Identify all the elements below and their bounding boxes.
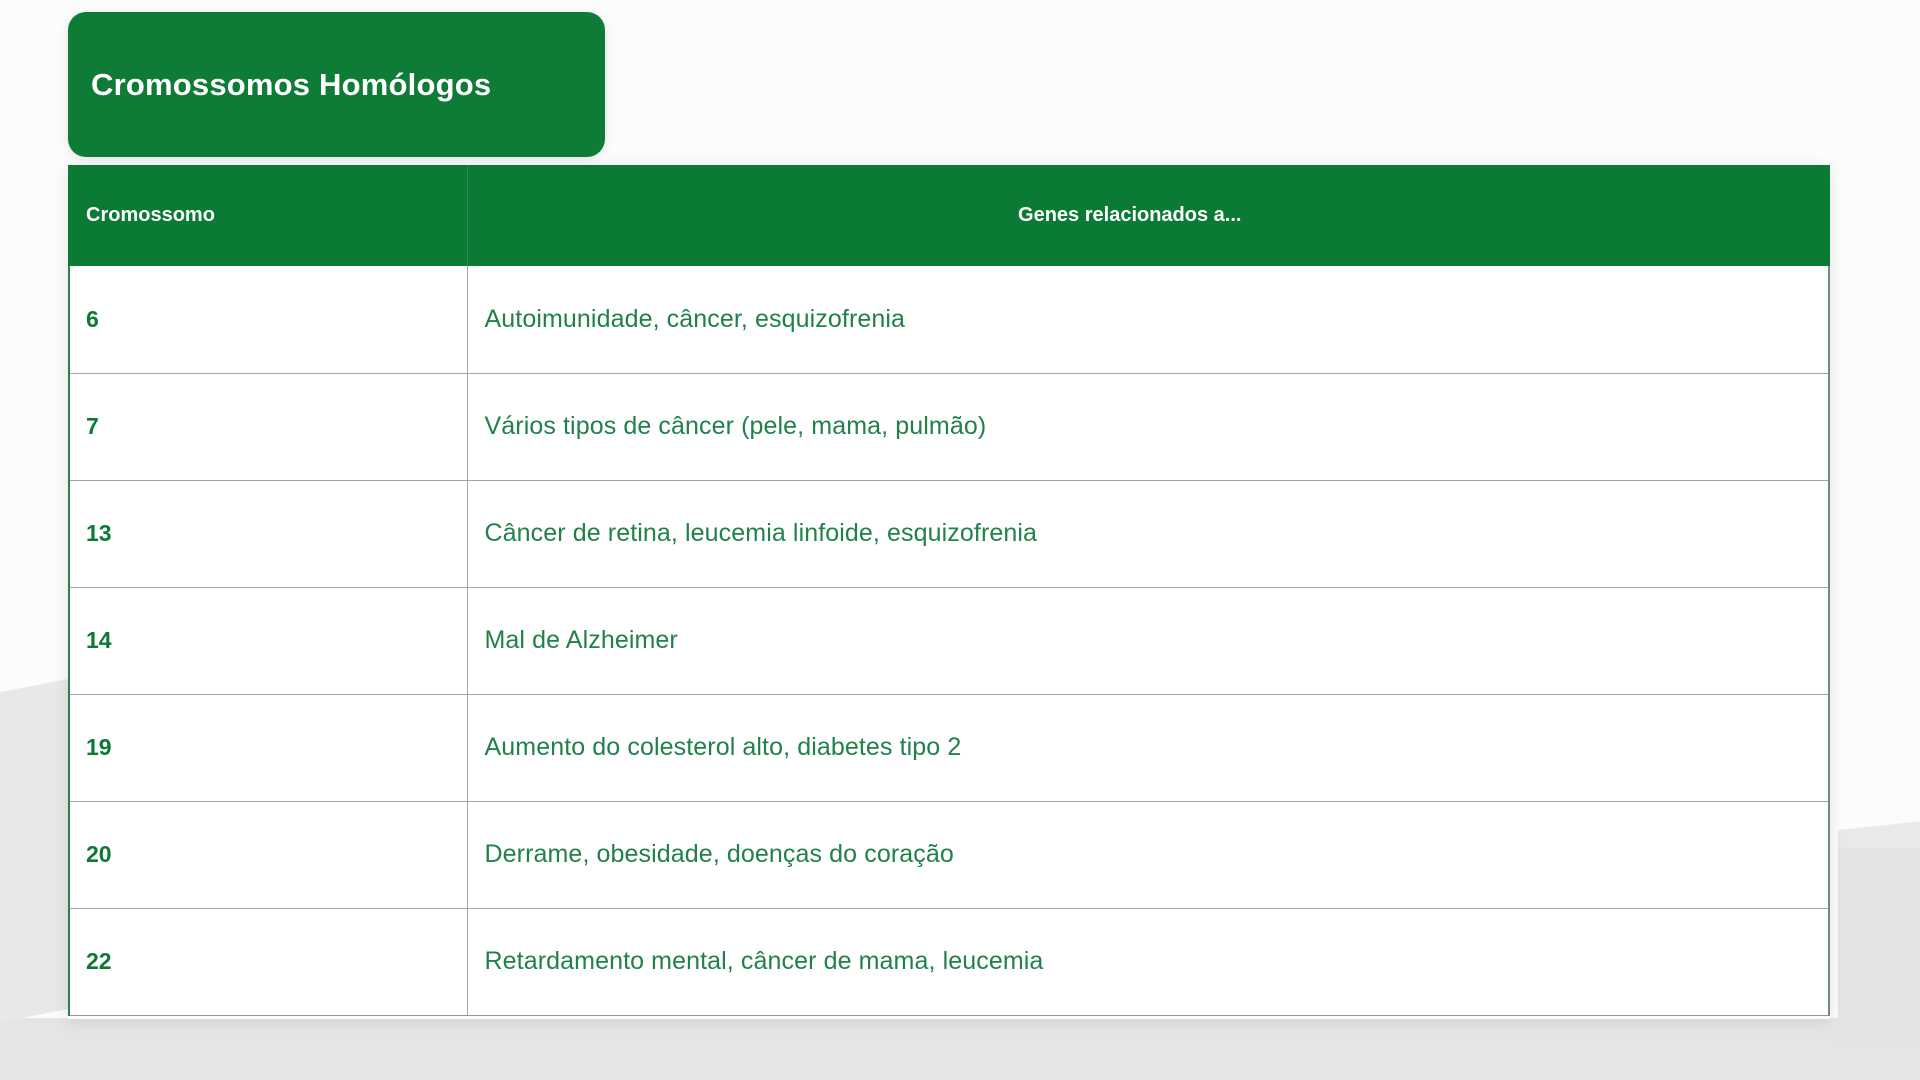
cell-genes: Aumento do colesterol alto, diabetes tip… <box>467 694 1829 801</box>
table-row: 22 Retardamento mental, câncer de mama, … <box>69 908 1829 1015</box>
table-header-row: Cromossomo Genes relacionados a... <box>69 165 1829 266</box>
cell-chromosome: 14 <box>69 587 467 694</box>
cell-genes: Autoimunidade, câncer, esquizofrenia <box>467 266 1829 373</box>
title-badge: Cromossomos Homólogos <box>68 12 605 157</box>
cell-genes: Derrame, obesidade, doenças do coração <box>467 801 1829 908</box>
table-header: Cromossomo Genes relacionados a... <box>69 165 1829 266</box>
cell-genes: Câncer de retina, leucemia linfoide, esq… <box>467 480 1829 587</box>
cell-chromosome: 13 <box>69 480 467 587</box>
cell-genes: Retardamento mental, câncer de mama, leu… <box>467 908 1829 1015</box>
table-row: 19 Aumento do colesterol alto, diabetes … <box>69 694 1829 801</box>
cell-chromosome: 7 <box>69 373 467 480</box>
table-row: 6 Autoimunidade, câncer, esquizofrenia <box>69 266 1829 373</box>
background-bottom-band <box>0 1018 1920 1080</box>
column-header-genes: Genes relacionados a... <box>467 165 1829 266</box>
table-body: 6 Autoimunidade, câncer, esquizofrenia 7… <box>69 266 1829 1015</box>
slide-canvas: Cromossomos Homólogos Cromossomo Genes r… <box>0 0 1920 1080</box>
cell-chromosome: 19 <box>69 694 467 801</box>
table-row: 14 Mal de Alzheimer <box>69 587 1829 694</box>
cell-chromosome: 22 <box>69 908 467 1015</box>
chromosome-table: Cromossomo Genes relacionados a... 6 Aut… <box>68 165 1830 1016</box>
cell-chromosome: 6 <box>69 266 467 373</box>
table-row: 20 Derrame, obesidade, doenças do coraçã… <box>69 801 1829 908</box>
column-header-chromosome: Cromossomo <box>69 165 467 266</box>
table-row: 7 Vários tipos de câncer (pele, mama, pu… <box>69 373 1829 480</box>
page-title: Cromossomos Homólogos <box>68 67 491 103</box>
cell-chromosome: 20 <box>69 801 467 908</box>
table-row: 13 Câncer de retina, leucemia linfoide, … <box>69 480 1829 587</box>
chromosome-table-container: Cromossomo Genes relacionados a... 6 Aut… <box>68 165 1830 1019</box>
cell-genes: Vários tipos de câncer (pele, mama, pulm… <box>467 373 1829 480</box>
background-diagonal-shape-right <box>1838 848 1920 1048</box>
cell-genes: Mal de Alzheimer <box>467 587 1829 694</box>
